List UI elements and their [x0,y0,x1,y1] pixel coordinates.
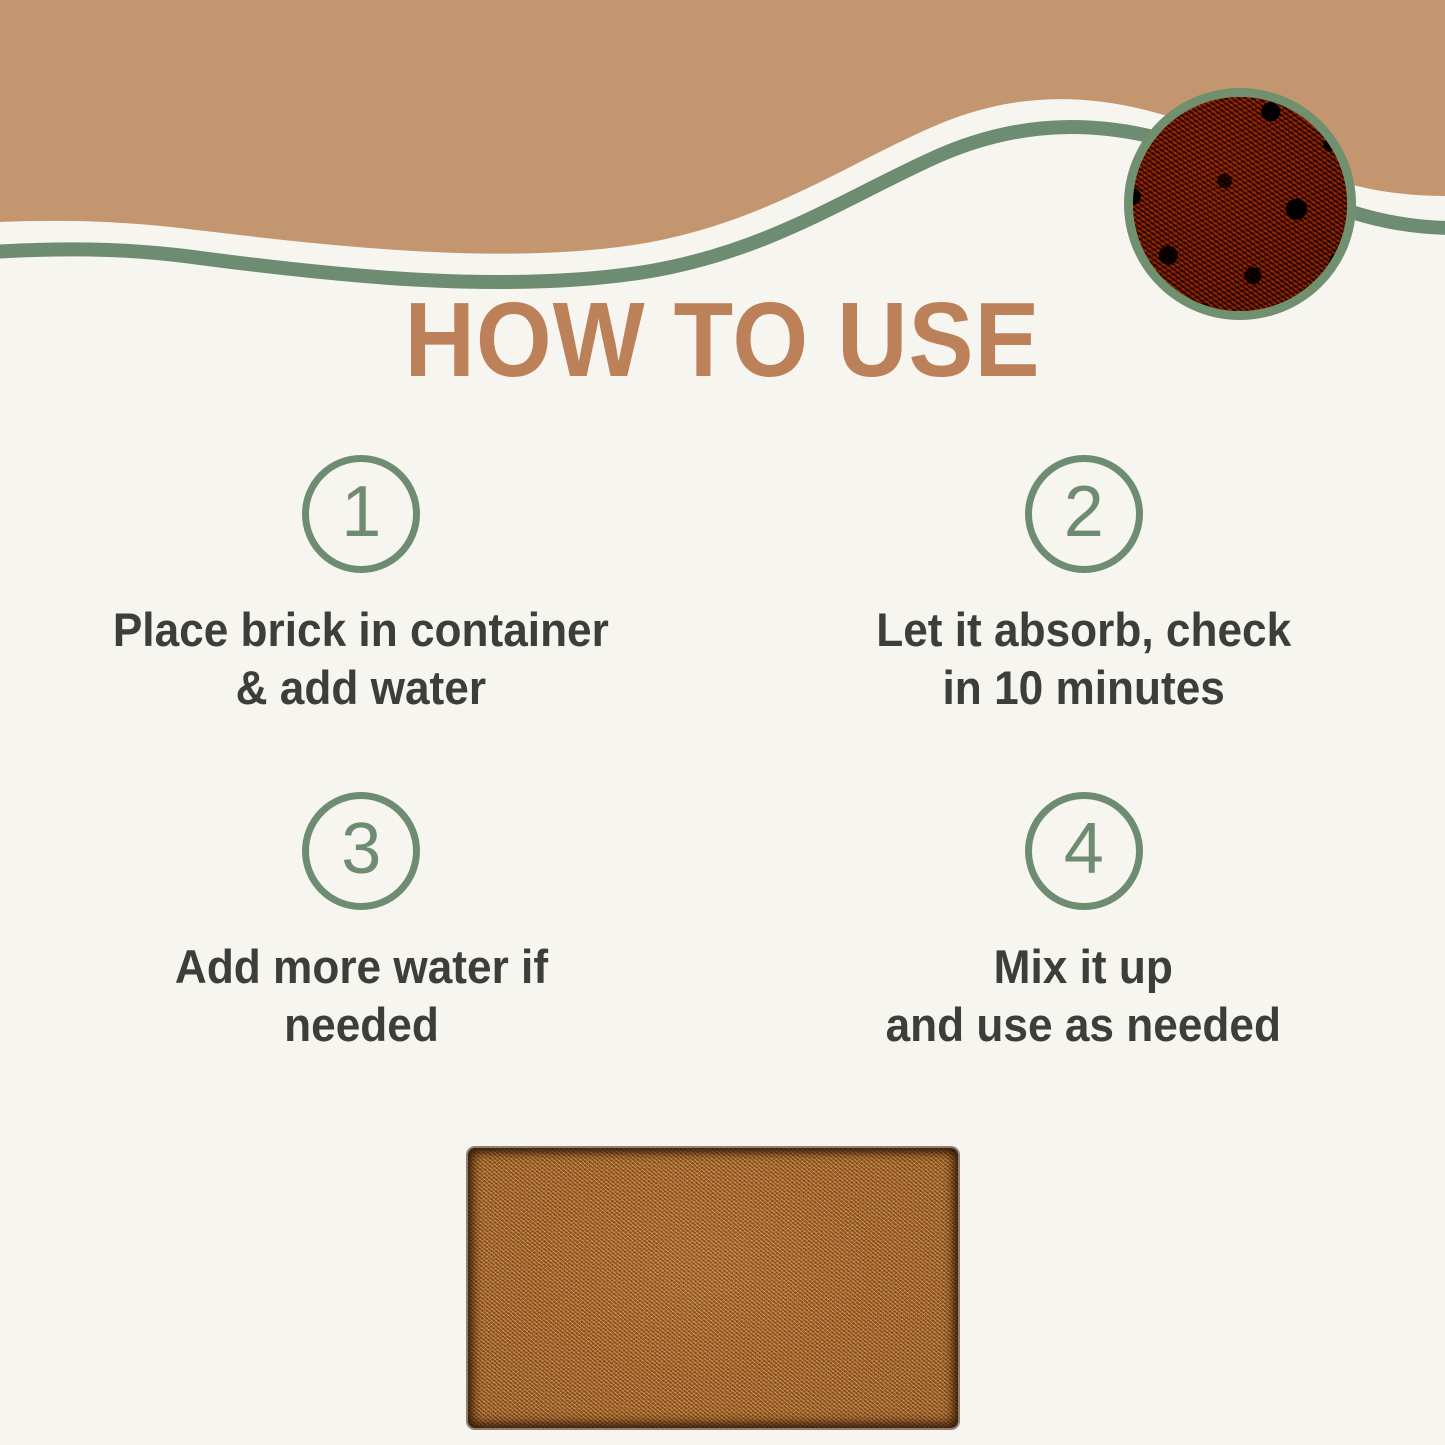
step-label-3: Add more water if needed [175,938,548,1055]
step-label-2: Let it absorb, check in 10 minutes [876,601,1291,718]
step-label-4: Mix it up and use as needed [886,938,1281,1055]
step-item-3: 3 Add more water if needed [0,792,723,1055]
step-item-1: 1 Place brick in container & add water [0,455,723,718]
steps-grid: 1 Place brick in container & add water 2… [0,455,1445,1054]
step-number-badge-2: 2 [1025,455,1143,573]
page-title: HOW TO USE [58,284,1387,396]
step-item-4: 4 Mix it up and use as needed [723,792,1445,1055]
how-to-use-infographic: HOW TO USE 1 Place brick in container & … [0,0,1445,1445]
step-label-1: Place brick in container & add water [113,601,609,718]
coir-brick-photo [468,1148,958,1428]
step-item-2: 2 Let it absorb, check in 10 minutes [723,455,1445,718]
brick-edge-shading [468,1148,958,1428]
step-number-badge-1: 1 [302,455,420,573]
step-number-badge-4: 4 [1025,792,1143,910]
step-number-badge-3: 3 [302,792,420,910]
